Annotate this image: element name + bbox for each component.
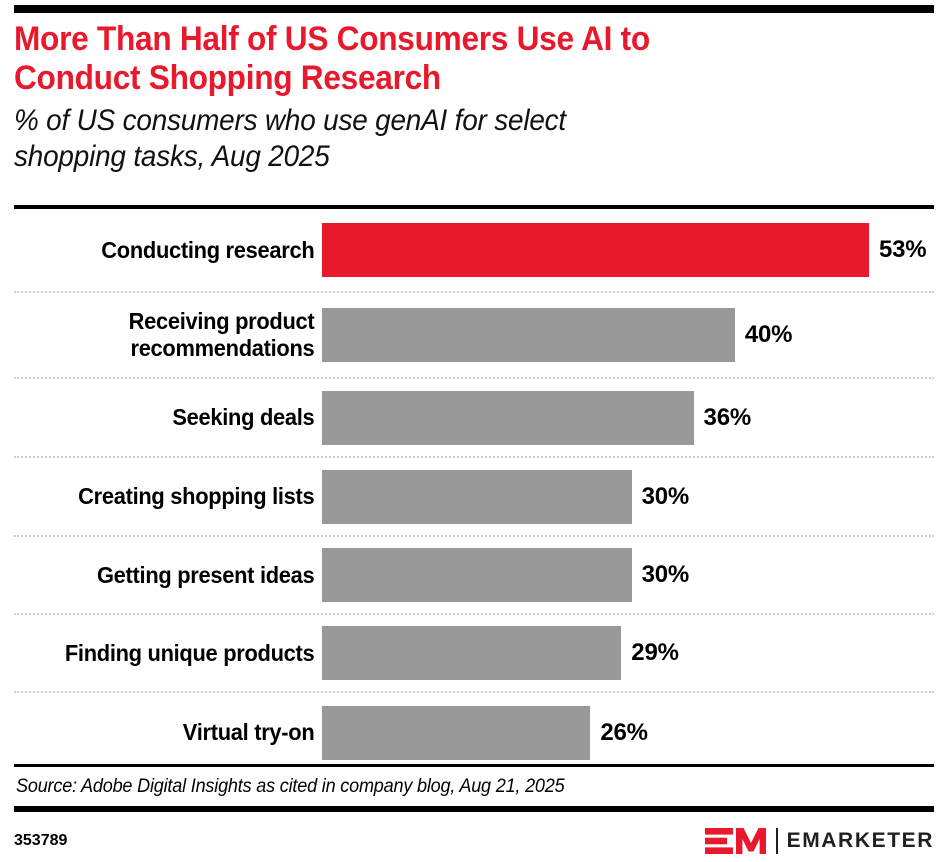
chart-id: 353789: [14, 832, 67, 850]
chart-row: Virtual try-on26%: [14, 693, 934, 772]
source-rule-bottom: [14, 806, 934, 812]
bar-track: 36%: [322, 379, 934, 456]
bar-label: Getting present ideas: [29, 562, 322, 589]
chart-title: More Than Half of US Consumers Use AI to…: [14, 20, 870, 98]
bar-value-label: 40%: [745, 321, 792, 349]
chart-header: More Than Half of US Consumers Use AI to…: [14, 20, 934, 175]
chart-subtitle: % of US consumers who use genAI for sele…: [14, 103, 870, 175]
chart-row: Conducting research53%: [14, 209, 934, 293]
bar: [322, 470, 632, 524]
bar-label: Conducting research: [29, 237, 322, 264]
bar-track: 40%: [322, 293, 934, 377]
chart-page: More Than Half of US Consumers Use AI to…: [0, 0, 948, 862]
bar: [322, 391, 694, 445]
chart-row: Getting present ideas30%: [14, 537, 934, 615]
chart-row: Finding unique products29%: [14, 615, 934, 693]
bar: [322, 548, 632, 602]
bar: [322, 706, 590, 760]
chart-row: Seeking deals36%: [14, 379, 934, 458]
bar-label: Seeking deals: [29, 404, 322, 431]
bar-track: 53%: [322, 209, 934, 291]
bar-value-label: 26%: [600, 719, 647, 747]
bar-value-label: 29%: [631, 639, 678, 667]
bar-highlight: [322, 223, 869, 277]
bar-track: 29%: [322, 615, 934, 691]
bar-label: Virtual try-on: [29, 719, 322, 746]
bar-value-label: 30%: [642, 483, 689, 511]
logo-divider: [776, 828, 778, 854]
chart-row: Receiving product recommendations40%: [14, 293, 934, 379]
bar-value-label: 30%: [642, 561, 689, 589]
bar-label: Creating shopping lists: [29, 483, 322, 510]
chart-row: Creating shopping lists30%: [14, 458, 934, 537]
chart-footer: 353789 EMARKETER: [14, 826, 934, 856]
source-note: Source: Adobe Digital Insights as cited …: [16, 772, 881, 802]
bar-label: Finding unique products: [29, 640, 322, 667]
brand-wordmark: EMARKETER: [787, 829, 934, 853]
bar-chart: Conducting research53%Receiving product …: [14, 209, 934, 772]
bar-value-label: 36%: [704, 404, 751, 432]
bar-value-label: 53%: [879, 236, 926, 264]
bar: [322, 308, 735, 362]
em-monogram-icon: [705, 827, 767, 855]
bar-label: Receiving product recommendations: [29, 308, 322, 362]
top-rule: [14, 5, 934, 13]
bar: [322, 626, 621, 680]
bar-track: 26%: [322, 693, 934, 772]
bar-track: 30%: [322, 458, 934, 535]
emarketer-logo: EMARKETER: [705, 827, 934, 855]
bar-track: 30%: [322, 537, 934, 613]
source-rule-top: [14, 764, 934, 767]
